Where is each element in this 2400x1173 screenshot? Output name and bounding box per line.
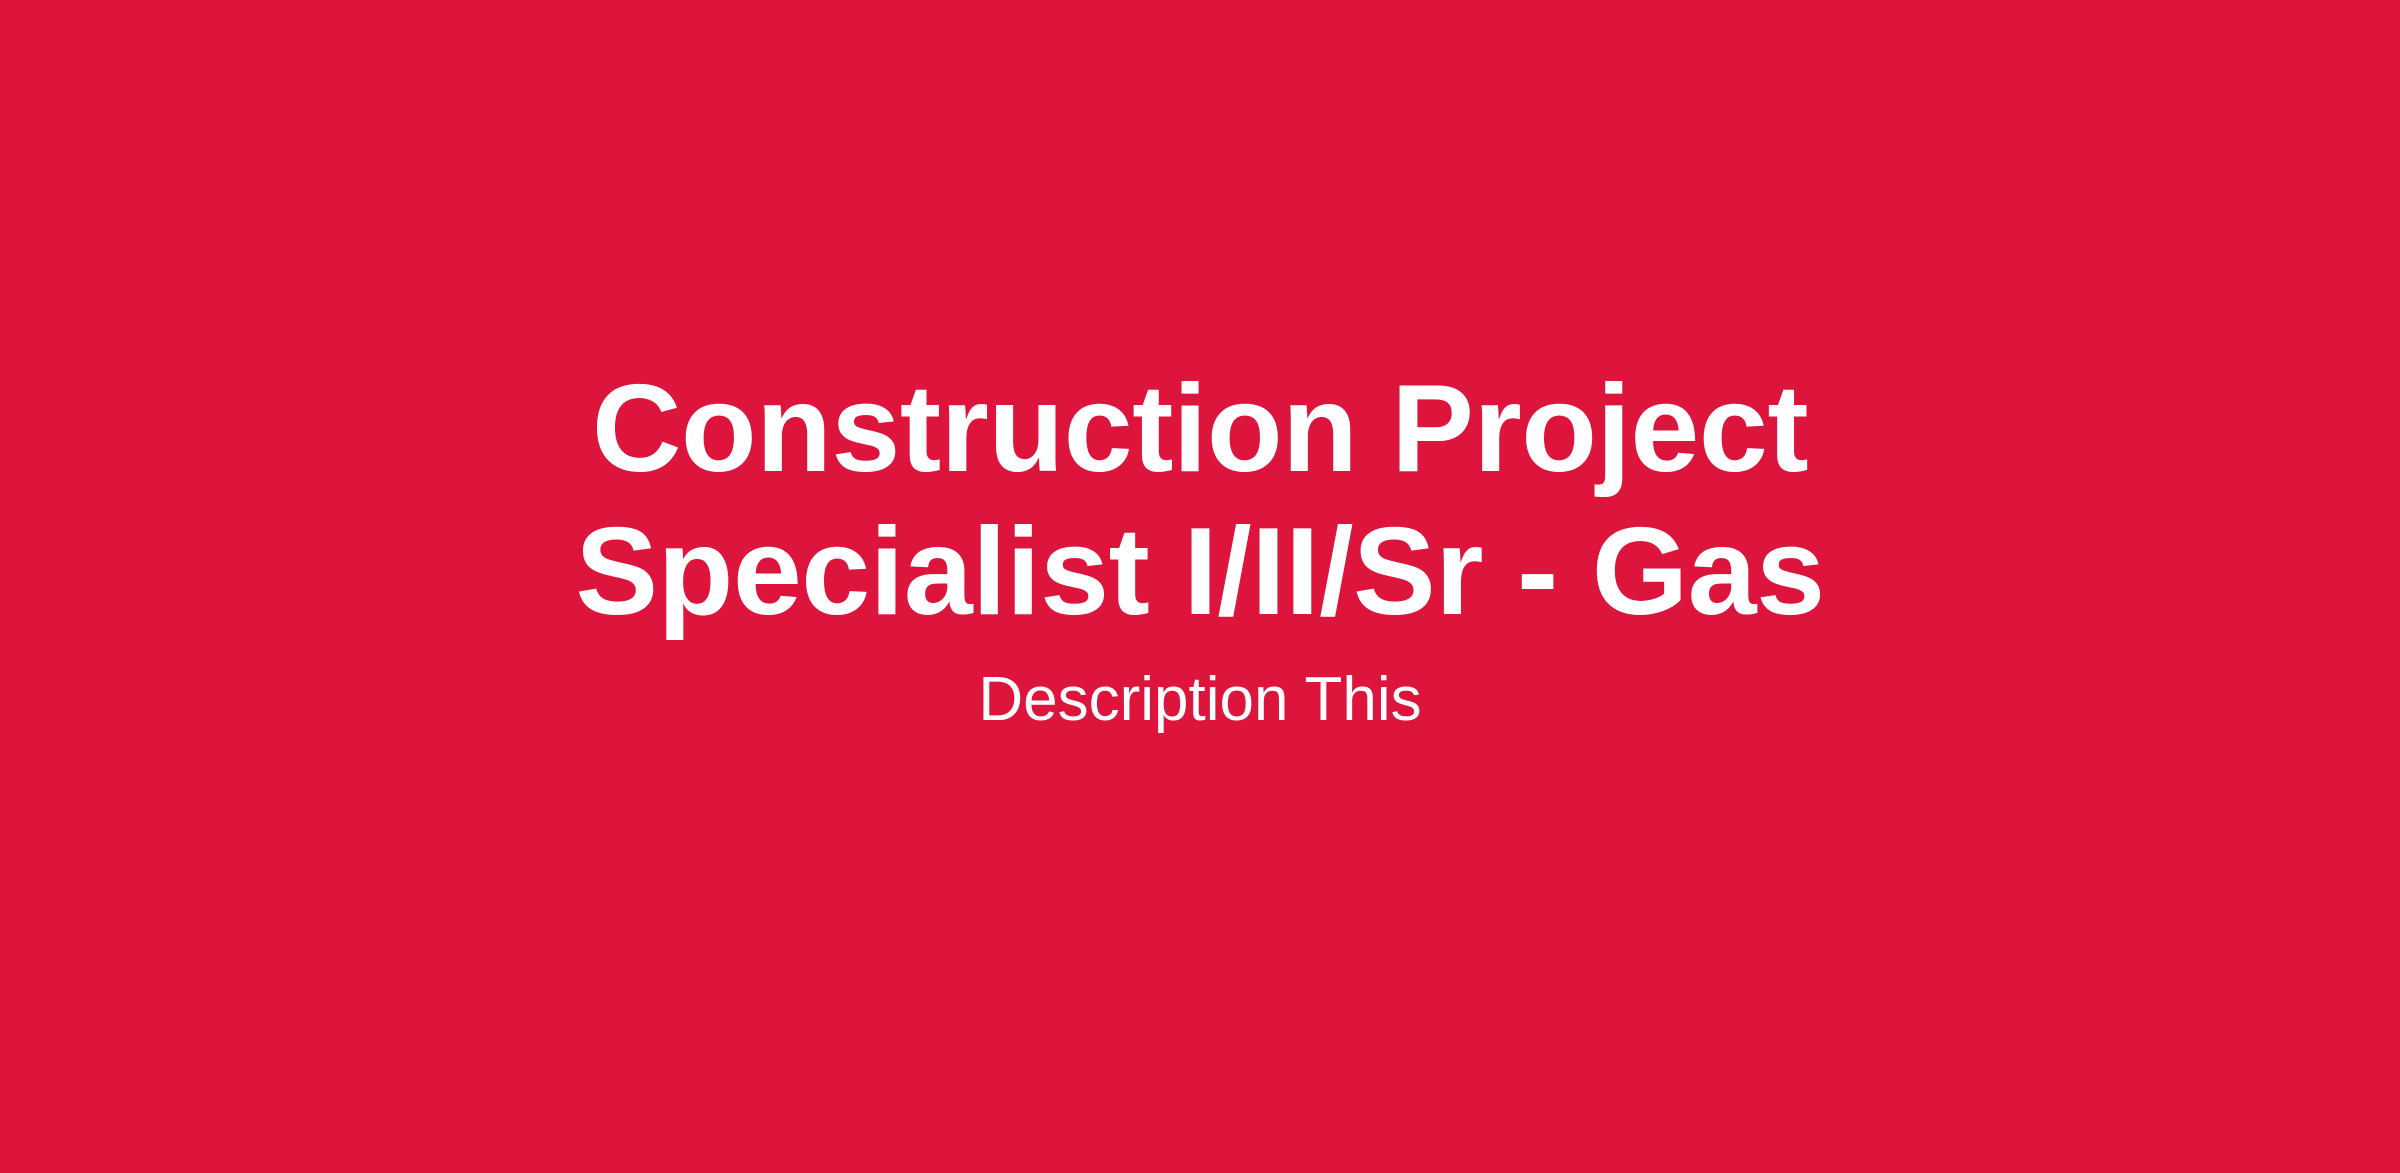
page-subtitle: Description This bbox=[978, 662, 1421, 738]
banner-text-block: Construction Project Specialist I/II/Sr … bbox=[570, 358, 1830, 738]
page-title: Construction Project Specialist I/II/Sr … bbox=[570, 358, 1830, 644]
job-posting-banner: Construction Project Specialist I/II/Sr … bbox=[0, 0, 2400, 1173]
